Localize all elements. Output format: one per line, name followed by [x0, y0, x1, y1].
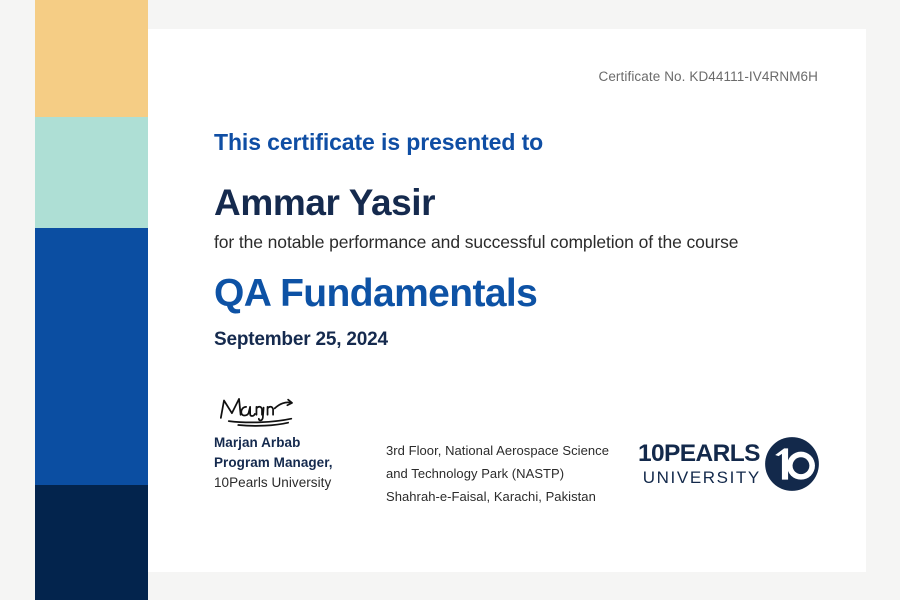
- certificate-page: Certificate No. KD44111-IV4RNM6H This ce…: [0, 0, 900, 600]
- address-line: and Technology Park (NASTP): [386, 462, 636, 485]
- presented-to-heading: This certificate is presented to: [214, 129, 543, 156]
- recipient-name: Ammar Yasir: [214, 182, 435, 224]
- signature-block: Marjan Arbab Program Manager, 10Pearls U…: [214, 391, 374, 493]
- decorative-color-bar: [35, 0, 148, 600]
- course-title: QA Fundamentals: [214, 272, 537, 316]
- certificate-content: Certificate No. KD44111-IV4RNM6H This ce…: [148, 29, 866, 572]
- course-intro-text: for the notable performance and successf…: [214, 232, 738, 253]
- address-line: 3rd Floor, National Aerospace Science: [386, 439, 636, 462]
- signatory-name: Marjan Arbab: [214, 433, 374, 453]
- address-line: Shahrah-e-Faisal, Karachi, Pakistan: [386, 485, 636, 508]
- color-band-navy: [35, 485, 148, 600]
- signatory-organization: 10Pearls University: [214, 473, 374, 493]
- logo-wordmark: 10PEARLS UNIVERSITY: [638, 442, 760, 487]
- address-block: 3rd Floor, National Aerospace Science an…: [386, 439, 636, 508]
- ten-pearls-circle-icon: [764, 436, 820, 492]
- color-band-yellow: [35, 0, 148, 117]
- color-band-mint: [35, 117, 148, 228]
- completion-date: September 25, 2024: [214, 329, 388, 351]
- logo-wordmark-primary: 10PEARLS: [638, 442, 760, 467]
- signature-icon: [214, 391, 310, 429]
- brand-logo: 10PEARLS UNIVERSITY: [638, 434, 828, 494]
- certificate-footer: Marjan Arbab Program Manager, 10Pearls U…: [148, 369, 866, 529]
- logo-wordmark-secondary: UNIVERSITY: [643, 469, 761, 486]
- certificate-number: Certificate No. KD44111-IV4RNM6H: [598, 69, 818, 84]
- color-band-blue: [35, 228, 148, 485]
- signatory-role: Program Manager,: [214, 453, 374, 473]
